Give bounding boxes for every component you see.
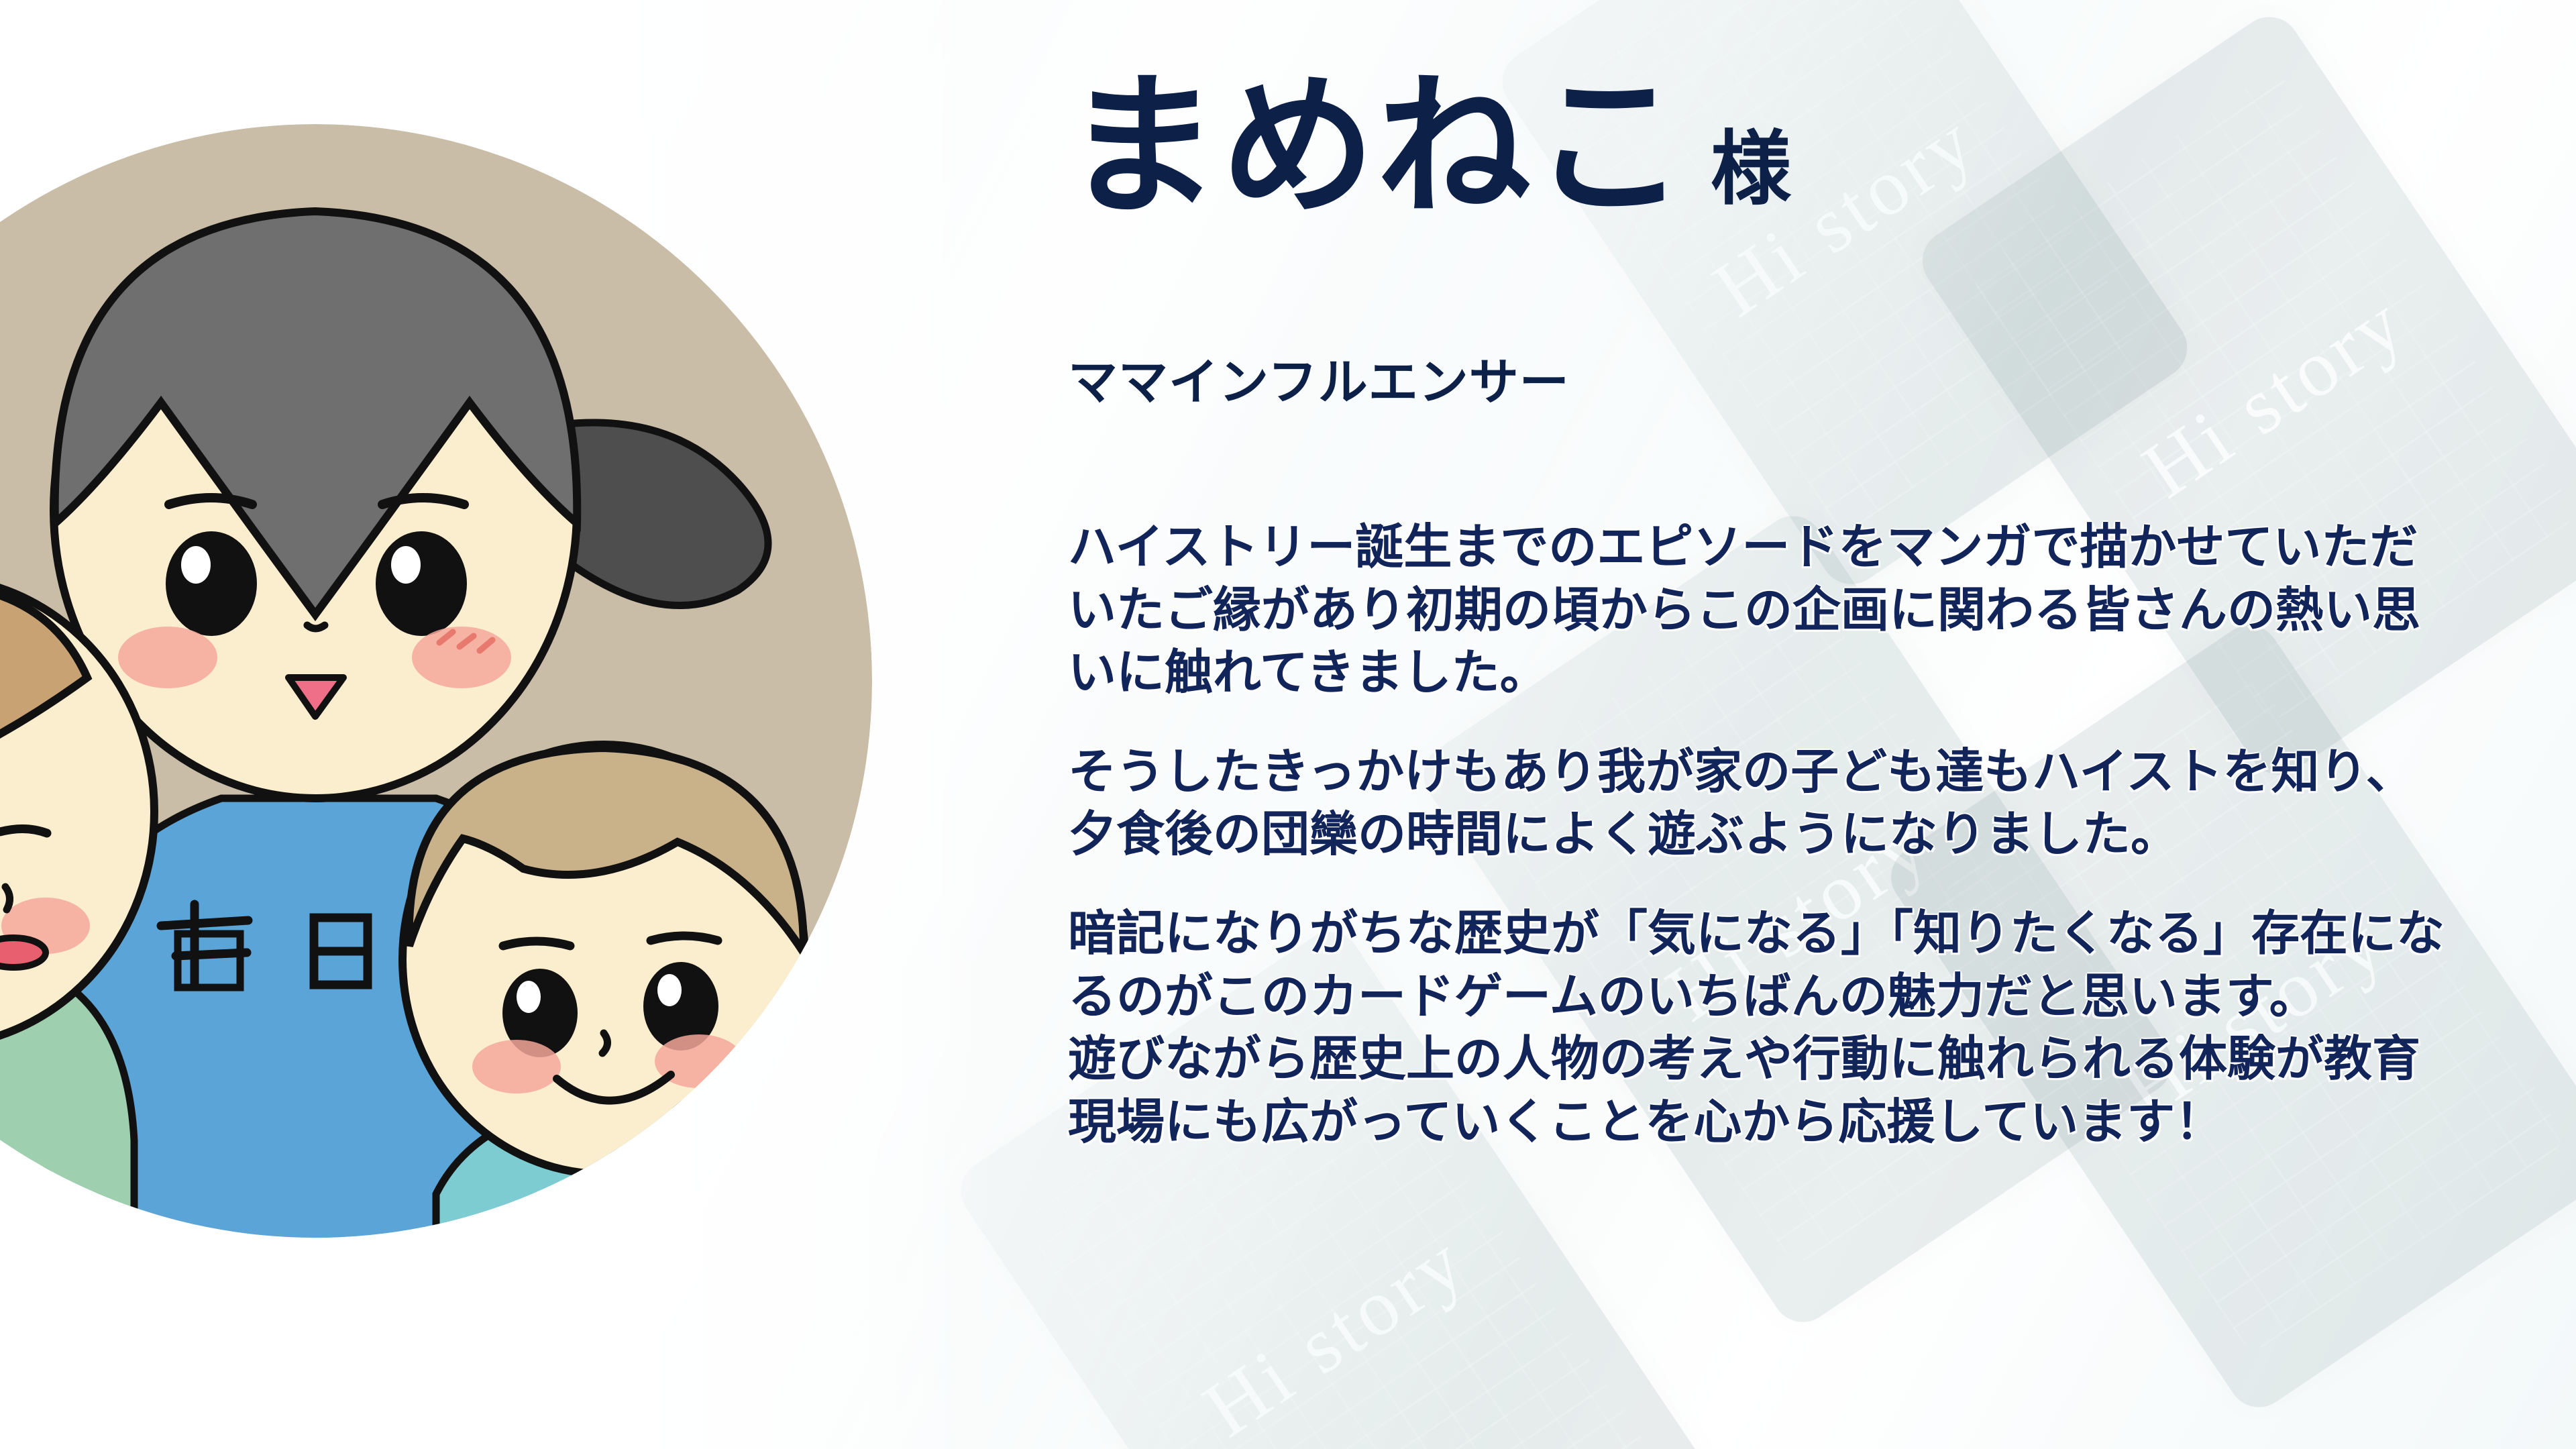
portrait-circle-mask [0,54,892,1328]
testimonial-content: まめねこ 様 ママインフルエンサー ハイストリー誕生までのエピソードをマンガで描… [1065,0,2541,1449]
testimonial-body: ハイストリー誕生までのエピソードをマンガで描かせていただ いたご縁があり初期の頃… [1068,517,2510,1154]
testimonial-paragraph: ハイストリー誕生までのエピソードをマンガで描かせていただ いたご縁があり初期の頃… [1068,517,2510,705]
portrait-illustration [0,54,892,1328]
honorific-suffix: 様 [1711,129,1792,209]
person-name: まめねこ [1065,70,1688,224]
testimonial-paragraph: そうしたきっかけもあり我が家の子ども達もハイストを知り、 夕食後の団欒の時間によ… [1068,741,2510,867]
testimonial-slide: Hi story Hi story Hi story Hi story Hi s… [0,0,2576,1449]
headline: まめねこ 様 [1065,70,1792,224]
person-role: ママインフルエンサー [1068,342,1570,414]
testimonial-paragraph: 暗記になりがちな歴史が「気になる」「知りたくなる」存在にな るのがこのカードゲー… [1068,903,2510,1154]
